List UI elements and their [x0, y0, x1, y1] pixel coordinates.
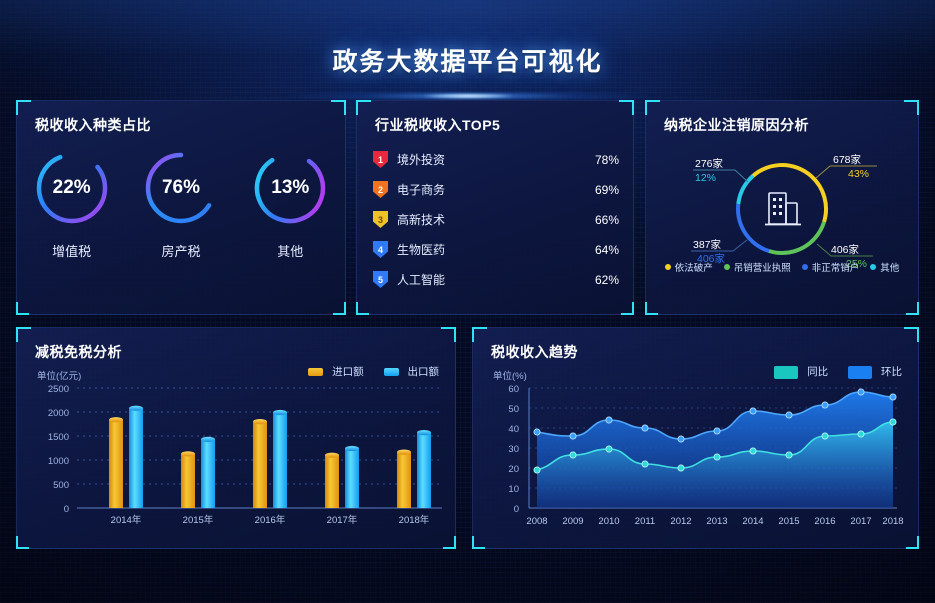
- rank-percent: 69%: [585, 183, 619, 197]
- panel-title-tax-trend: 税收收入趋势: [491, 342, 578, 362]
- svg-text:40: 40: [508, 424, 519, 435]
- gauge-value-2: 13%: [251, 149, 329, 227]
- donut-label-count: 406家: [831, 243, 860, 256]
- bar-import[interactable]: [253, 422, 267, 508]
- list-item[interactable]: 5 人工智能 62%: [373, 265, 619, 294]
- legend-label: 出口额: [408, 366, 440, 378]
- rank-badge-icon: 3: [373, 211, 388, 228]
- svg-text:20: 20: [508, 464, 519, 475]
- header-glow-core: [423, 94, 513, 98]
- panel-industry-top5: 行业税收收入TOP5 1 境外投资 78% 2 电子商务 69% 3 高新技术 …: [356, 100, 634, 315]
- legend-dot-icon: [724, 264, 730, 270]
- svg-text:2014: 2014: [742, 516, 763, 527]
- legend-item-bankruptcy[interactable]: 依法破产: [665, 260, 713, 274]
- bar-cap: [345, 446, 359, 451]
- svg-text:10: 10: [508, 484, 519, 495]
- svg-text:2014年: 2014年: [111, 514, 142, 526]
- rank-bar-track: [459, 246, 575, 253]
- bar-group-2018[interactable]: [397, 430, 431, 508]
- donut-chart: 678家 43% 276家 12% 387家 406家 406家 25% 依法破…: [646, 137, 918, 285]
- legend-label: 其他: [880, 260, 899, 274]
- donut-legend: 依法破产 吊销营业执照 非正常销户 其他: [646, 260, 918, 274]
- svg-text:500: 500: [53, 480, 69, 491]
- bar-import[interactable]: [181, 454, 195, 508]
- gauge-label-2: 其他: [242, 241, 338, 260]
- legend-item-import[interactable]: 进口额: [308, 364, 363, 379]
- legend-item-yoy[interactable]: 同比: [774, 364, 828, 379]
- legend-label: 非正常销户: [812, 260, 860, 274]
- y-axis: 2500 2000 1500 1000 500 0: [48, 384, 69, 515]
- gauge-ring-0: 22%: [33, 149, 111, 227]
- bar-cap: [417, 430, 431, 435]
- rank-bar-track: [459, 156, 575, 163]
- corner-bracket-bottom-left: [16, 302, 29, 315]
- list-item[interactable]: 2 电子商务 69%: [373, 175, 619, 204]
- svg-text:30: 30: [508, 444, 519, 455]
- rank-name: 电子商务: [397, 181, 455, 198]
- svg-text:2009: 2009: [562, 516, 583, 527]
- svg-text:2018年: 2018年: [399, 514, 430, 526]
- legend-swatch-icon: [308, 368, 323, 376]
- legend-swatch-icon: [384, 368, 399, 376]
- gauge-ring-1: 76%: [142, 149, 220, 227]
- bar-chart-svg: 2500 2000 1500 1000 500 0: [17, 380, 457, 545]
- rank-name: 高新技术: [397, 211, 455, 228]
- rank-name: 生物医药: [397, 241, 455, 258]
- bar-export[interactable]: [345, 449, 359, 509]
- corner-bracket-bottom-right: [621, 302, 634, 315]
- svg-text:2016: 2016: [814, 516, 835, 527]
- x-axis-labels: 2014年 2015年 2016年 2017年 2018年: [111, 514, 430, 526]
- bar-cap: [325, 453, 339, 458]
- bar-group-2016[interactable]: [253, 410, 287, 508]
- gauge-item[interactable]: 76% 房产税: [133, 149, 229, 260]
- legend-label: 同比: [807, 366, 828, 378]
- bar-cap: [181, 451, 195, 456]
- bar-import[interactable]: [109, 420, 123, 508]
- bar-cap: [109, 417, 123, 422]
- gauge-label-1: 房产税: [133, 241, 229, 260]
- rank-badge-icon: 2: [373, 181, 388, 198]
- bar-chart-legend: 进口额 出口额: [308, 364, 439, 379]
- legend-item-mom[interactable]: 环比: [848, 364, 902, 379]
- panel-title-tax-reduction: 减税免税分析: [35, 342, 122, 362]
- bar-export[interactable]: [201, 439, 215, 508]
- donut-label-pct: 43%: [848, 168, 869, 180]
- list-item[interactable]: 4 生物医药 64%: [373, 235, 619, 264]
- rank-name: 人工智能: [397, 271, 455, 288]
- svg-text:2015年: 2015年: [183, 514, 214, 526]
- gauge-group: 22% 增值税: [17, 149, 345, 260]
- svg-text:60: 60: [508, 384, 519, 395]
- svg-text:2008: 2008: [526, 516, 547, 527]
- svg-text:0: 0: [514, 504, 519, 515]
- corner-bracket-bottom-right: [333, 302, 346, 315]
- panel-tax-share: 税收收入种类占比 22%: [16, 100, 346, 315]
- x-axis-labels: 2008 2009 2010 2011 2012 2013 2014 2015 …: [526, 516, 903, 527]
- area-chart-legend: 同比 环比: [774, 364, 902, 379]
- rank-badge-icon: 4: [373, 241, 388, 258]
- rank-bar-track: [459, 186, 575, 193]
- panel-cancel-reason: 纳税企业注销原因分析: [645, 100, 919, 315]
- rank-name: 境外投资: [397, 151, 455, 168]
- panel-title-top5: 行业税收收入TOP5: [375, 115, 500, 135]
- rank-list: 1 境外投资 78% 2 电子商务 69% 3 高新技术 66% 4 生物医药: [373, 145, 619, 295]
- legend-label: 进口额: [332, 366, 364, 378]
- legend-label: 吊销营业执照: [734, 260, 791, 274]
- legend-dot-icon: [870, 264, 876, 270]
- dashboard-header: 政务大数据平台可视化: [0, 42, 935, 88]
- panel-tax-reduction: 减税免税分析 单位(亿元) 进口额 出口额: [16, 327, 456, 549]
- bar-export[interactable]: [129, 408, 143, 508]
- list-item[interactable]: 3 高新技术 66%: [373, 205, 619, 234]
- svg-text:1000: 1000: [48, 456, 69, 467]
- bar-group-2015[interactable]: [181, 437, 215, 508]
- bar-import[interactable]: [325, 455, 339, 508]
- legend-item-license-revoked[interactable]: 吊销营业执照: [724, 260, 791, 274]
- donut-label-count: 387家: [693, 238, 722, 251]
- list-item[interactable]: 1 境外投资 78%: [373, 145, 619, 174]
- rank-percent: 64%: [585, 243, 619, 257]
- legend-item-export[interactable]: 出口额: [384, 364, 439, 379]
- panel-tax-trend: 税收收入趋势 单位(%) 同比 环比: [472, 327, 919, 549]
- svg-text:2016年: 2016年: [255, 514, 286, 526]
- y-axis: 60 50 40 30 20 10 0: [508, 384, 519, 515]
- gauge-ring-2: 13%: [251, 149, 329, 227]
- gauge-value-0: 22%: [33, 149, 111, 227]
- svg-text:2017年: 2017年: [327, 514, 358, 526]
- svg-text:1500: 1500: [48, 432, 69, 443]
- svg-text:2000: 2000: [48, 408, 69, 419]
- rank-badge-icon: 1: [373, 151, 388, 168]
- legend-swatch-icon: [848, 366, 872, 379]
- bar-cap: [253, 419, 267, 424]
- area-chart-svg: 60 50 40 30 20 10 0: [473, 380, 920, 545]
- rank-percent: 66%: [585, 213, 619, 227]
- gauge-label-0: 增值税: [24, 241, 120, 260]
- legend-label: 环比: [881, 366, 902, 378]
- panel-title-tax-share: 税收收入种类占比: [35, 115, 151, 135]
- rank-bar-track: [459, 216, 575, 223]
- legend-swatch-icon: [774, 366, 798, 379]
- legend-dot-icon: [802, 264, 808, 270]
- dashboard-root: 政务大数据平台可视化 税收收入种类占比: [0, 0, 935, 603]
- legend-dot-icon: [665, 264, 671, 270]
- bar-import[interactable]: [397, 452, 411, 508]
- building-icon: [765, 193, 801, 225]
- svg-text:2017: 2017: [850, 516, 871, 527]
- corner-bracket-bottom-left: [645, 302, 658, 315]
- svg-text:2011: 2011: [635, 516, 655, 527]
- bar-export[interactable]: [417, 433, 431, 508]
- bar-cap: [397, 450, 411, 455]
- corner-bracket-bottom-right: [906, 302, 919, 315]
- rank-percent: 62%: [585, 273, 619, 287]
- rank-bar-track: [459, 276, 575, 283]
- rank-badge-icon: 5: [373, 271, 388, 288]
- donut-label-count: 276家: [695, 157, 724, 170]
- svg-text:2012: 2012: [670, 516, 691, 527]
- gauge-item[interactable]: 13% 其他: [242, 149, 338, 260]
- bar-group-2014[interactable]: [109, 406, 143, 508]
- svg-text:2013: 2013: [706, 516, 727, 527]
- rank-percent: 78%: [585, 153, 619, 167]
- svg-text:2015: 2015: [778, 516, 799, 527]
- svg-text:2018: 2018: [882, 516, 903, 527]
- panel-title-cancel-reason: 纳税企业注销原因分析: [664, 115, 809, 135]
- bar-cap: [201, 437, 215, 442]
- donut-label-pct: 12%: [695, 172, 716, 184]
- gauge-value-1: 76%: [142, 149, 220, 227]
- page-title: 政务大数据平台可视化: [0, 42, 935, 78]
- bar-group-2017[interactable]: [325, 446, 359, 508]
- svg-text:0: 0: [64, 504, 69, 515]
- legend-item-other[interactable]: 其他: [870, 260, 899, 274]
- bar-export[interactable]: [273, 413, 287, 509]
- gauge-item[interactable]: 22% 增值税: [24, 149, 120, 260]
- svg-text:50: 50: [508, 404, 519, 415]
- bar-cap: [273, 410, 287, 415]
- bar-cap: [129, 406, 143, 411]
- legend-item-abnormal[interactable]: 非正常销户: [802, 260, 860, 274]
- donut-label-count: 678家: [833, 153, 862, 166]
- svg-text:2010: 2010: [598, 516, 619, 527]
- svg-text:2500: 2500: [48, 384, 69, 395]
- corner-bracket-bottom-left: [356, 302, 369, 315]
- legend-label: 依法破产: [675, 260, 713, 274]
